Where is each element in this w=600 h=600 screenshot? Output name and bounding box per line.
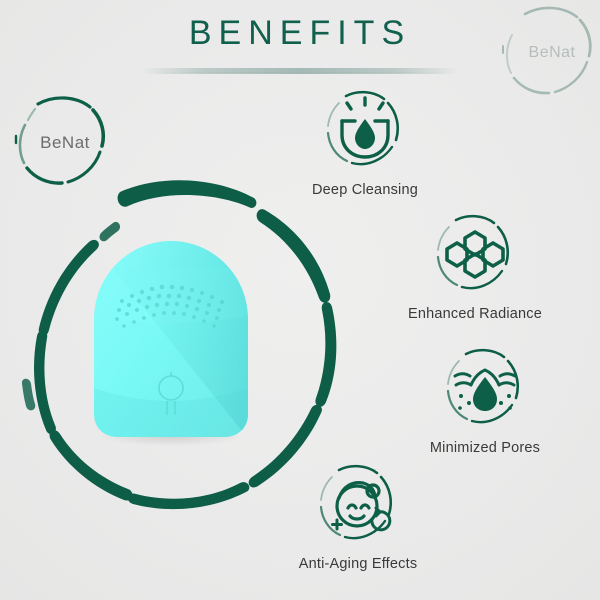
product-image xyxy=(88,238,254,446)
title-divider xyxy=(140,68,460,74)
pore-droplet-icon xyxy=(322,88,408,174)
skin-layers-droplet-icon xyxy=(442,346,528,432)
benefit-icon-wrap xyxy=(322,88,408,174)
brand-logo-right: BeNat xyxy=(497,0,600,108)
benefit-label: Anti-Aging Effects xyxy=(268,556,448,572)
benefit-icon-wrap xyxy=(315,462,401,548)
benefit-label: Enhanced Radiance xyxy=(385,306,565,322)
benefit-icon-wrap xyxy=(442,346,528,432)
benefit-minimized-pores: Minimized Pores xyxy=(405,346,565,456)
benefit-anti-aging: Anti-Aging Effects xyxy=(268,462,448,572)
benefits-infographic: BENEFITS BeNat xyxy=(0,0,600,600)
benefit-label: Deep Cleansing xyxy=(275,182,455,198)
benefit-icon-wrap xyxy=(432,212,518,298)
benefit-deep-cleansing: Deep Cleansing xyxy=(275,88,455,198)
benefit-enhanced-radiance: Enhanced Radiance xyxy=(385,212,565,322)
honeycomb-hexagons-icon xyxy=(432,212,518,298)
benefit-label: Minimized Pores xyxy=(405,440,565,456)
smiling-face-sparkle-icon xyxy=(315,462,401,548)
brand-logo-right-text: BeNat xyxy=(497,0,600,108)
